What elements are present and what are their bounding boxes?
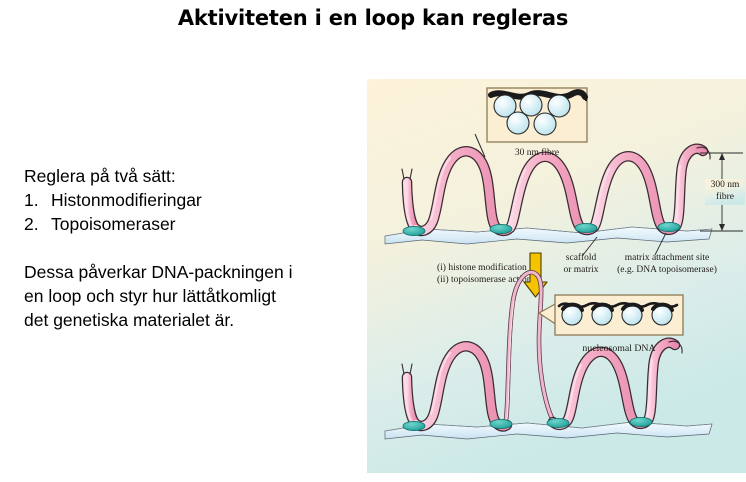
attachment-site: [575, 223, 597, 232]
summary-paragraph: Dessa påverkar DNA-packningen i en loop …: [24, 260, 342, 332]
list-item: 2. Topoisomeraser: [24, 212, 342, 236]
list-item-marker: 2.: [24, 212, 51, 236]
nucleosome-bead: [520, 94, 542, 116]
body-text-block: Reglera på två sätt: 1. Histonmodifierin…: [24, 164, 342, 332]
intro-line: Reglera på två sätt:: [24, 164, 342, 188]
chromatin-loop-diagram-svg: 30 nm fibre 300 nm fibre scaffold: [367, 79, 746, 473]
paragraph-line: det genetiska materialet är.: [24, 308, 342, 332]
label-scaffold-line1: scaffold: [566, 252, 597, 263]
paragraph-line: Dessa påverkar DNA-packningen i: [24, 260, 342, 284]
methods-list: 1. Histonmodifieringar 2. Topoisomeraser: [24, 188, 342, 236]
attachment-site: [630, 417, 652, 426]
attachment-site: [403, 421, 425, 430]
nucleosome-bead: [548, 95, 570, 117]
nucleosome-bead: [507, 112, 529, 134]
attachment-site: [658, 222, 680, 231]
list-item-label: Histonmodifieringar: [51, 188, 202, 212]
figure-image: 30 nm fibre 300 nm fibre scaffold: [367, 79, 746, 473]
label-nucleosomal-dna: nucleosomal DNA: [582, 343, 655, 354]
label-300nm-fibre-line1: 300 nm: [711, 180, 740, 190]
label-30nm-fibre: 30 nm fibre: [515, 147, 559, 158]
attachment-site: [490, 224, 512, 233]
list-item: 1. Histonmodifieringar: [24, 188, 342, 212]
attachment-site: [547, 418, 569, 427]
paragraph-line: en loop och styr hur lättåtkomligt: [24, 284, 342, 308]
label-300nm-fibre-line2: fibre: [716, 191, 734, 202]
attachment-site: [403, 226, 425, 235]
page-title: Aktiviteten i en loop kan regleras: [0, 6, 746, 30]
label-mar-line2: (e.g. DNA topoisomerase): [617, 264, 717, 275]
label-mar-line1: matrix attachment site: [625, 253, 709, 263]
label-step-histone-modification: (i) histone modification: [437, 262, 527, 273]
label-scaffold-line2: or matrix: [563, 265, 598, 275]
attachment-site: [490, 419, 512, 428]
list-item-label: Topoisomeraser: [51, 212, 176, 236]
nucleosome-bead: [534, 113, 556, 135]
slide-canvas: Aktiviteten i en loop kan regleras Regle…: [0, 0, 746, 482]
list-item-marker: 1.: [24, 188, 51, 212]
